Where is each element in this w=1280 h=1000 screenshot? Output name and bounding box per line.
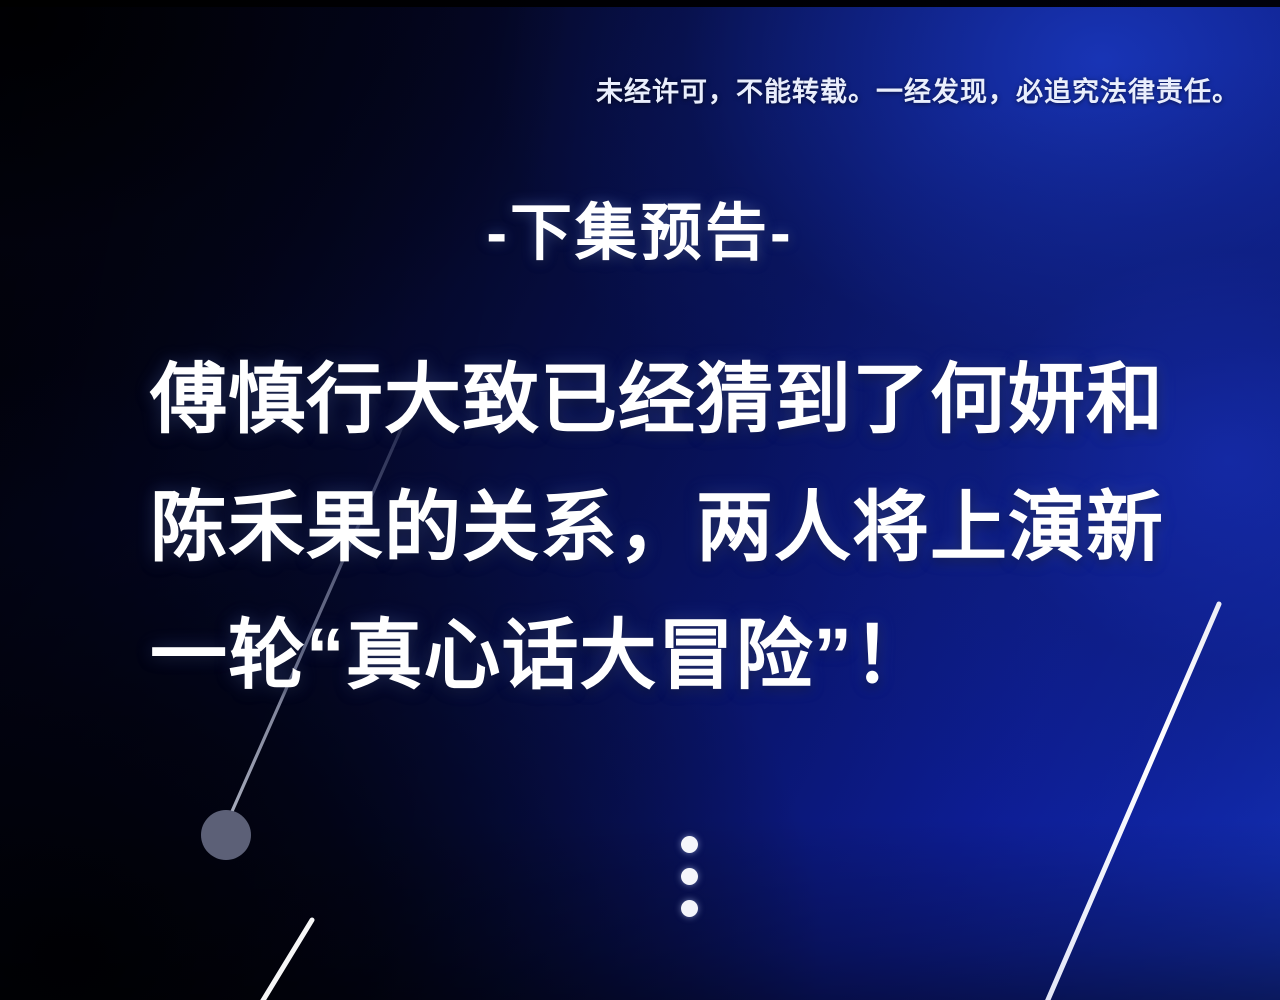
copyright-notice: 未经许可，不能转载。一经发现，必追究法律责任。 (0, 70, 1240, 109)
preview-text-block: 傅慎行大致已经猜到了何妍和 陈禾果的关系，两人将上演新 一轮“真心话大冒险”！ (150, 336, 1160, 720)
ellipsis-dot (681, 900, 698, 917)
preview-line-1: 傅慎行大致已经猜到了何妍和 (150, 336, 1160, 464)
preview-card: 未经许可，不能转载。一经发现，必追究法律责任。 -下集预告- 傅慎行大致已经猜到… (0, 0, 1280, 1000)
page-title: -下集预告- (0, 182, 1280, 272)
preview-line-2: 陈禾果的关系，两人将上演新 (150, 464, 1160, 592)
vertical-ellipsis-icon (681, 836, 703, 917)
background-top-strip (0, 0, 1280, 7)
background-bottom-fade (0, 820, 1280, 1000)
preview-line-3: 一轮“真心话大冒险”！ (150, 592, 1160, 720)
ellipsis-dot (681, 836, 698, 853)
ellipsis-dot (681, 868, 698, 885)
